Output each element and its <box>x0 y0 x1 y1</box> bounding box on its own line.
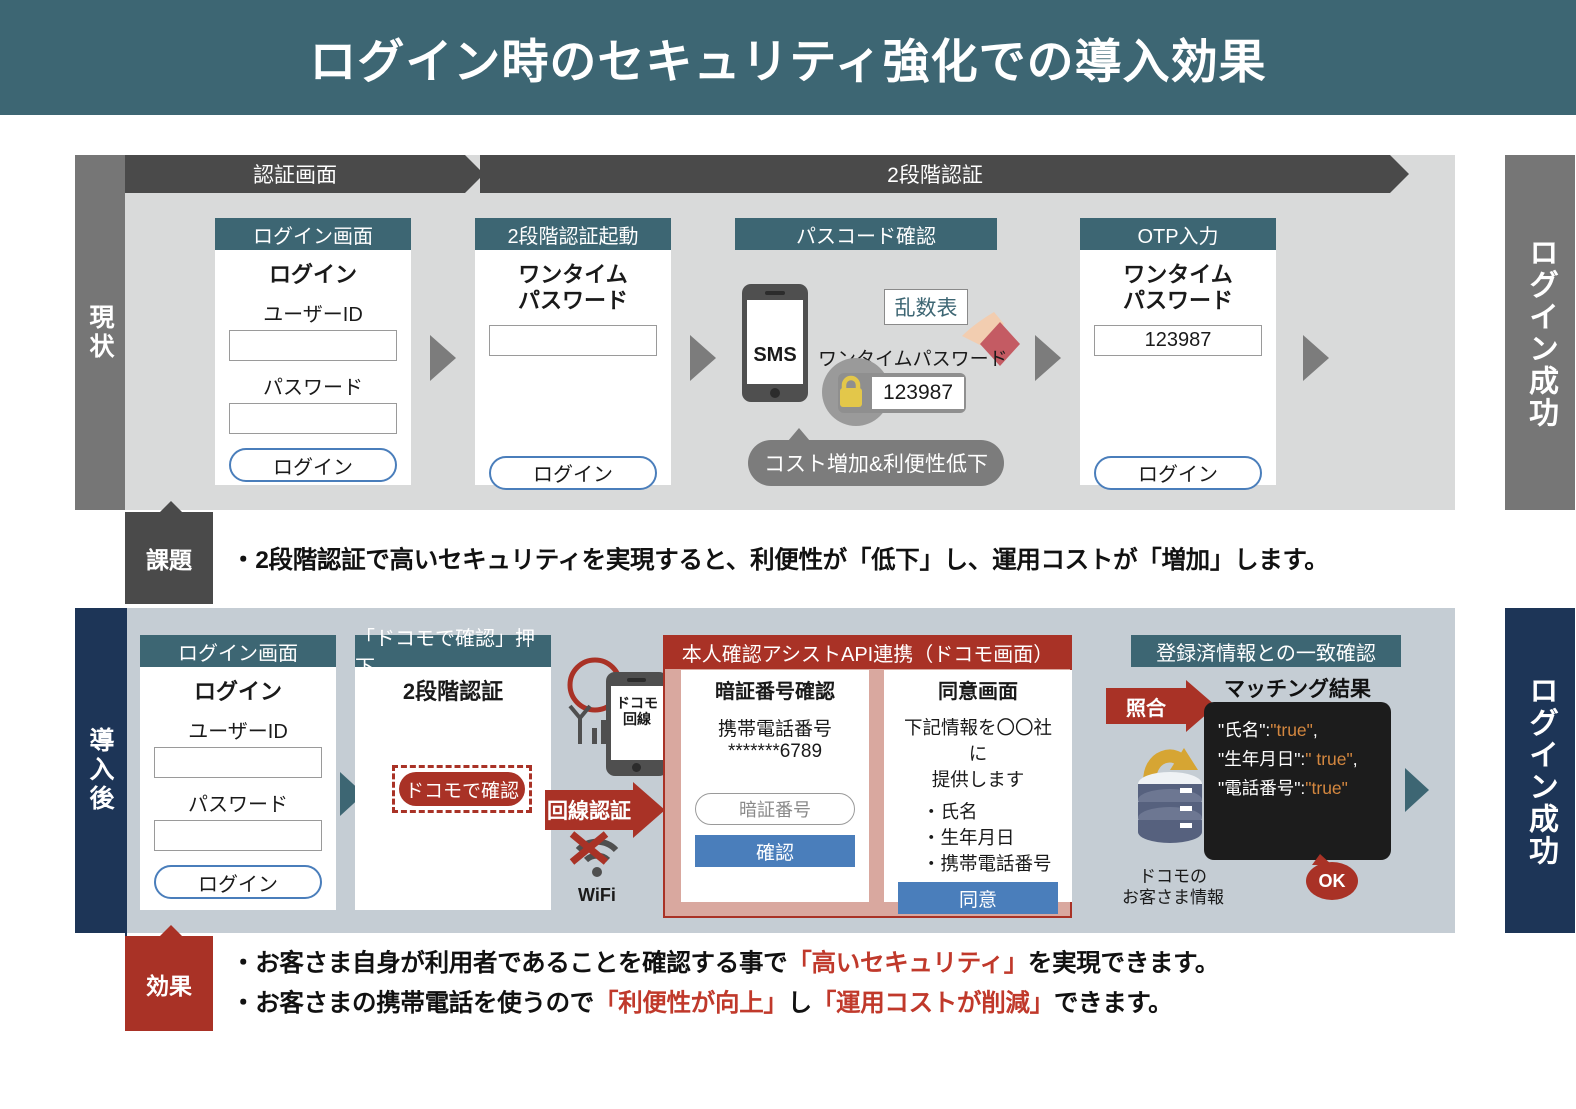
flow-arrow-4-icon <box>1303 335 1329 381</box>
consent-item-list: ・氏名 ・生年月日 ・携帯電話番号 <box>898 798 1058 876</box>
json-tail-1: , <box>1353 749 1358 769</box>
pin-input[interactable]: 暗証番号 <box>695 793 855 825</box>
line-authentication-arrow-label: 回線認証 <box>545 790 633 830</box>
login-button-after[interactable]: ログイン <box>154 865 322 899</box>
after-adoption-label: 導入後 <box>75 608 125 933</box>
database-caption-line1: ドコモの <box>1113 866 1233 887</box>
consent-item-1: ・生年月日 <box>922 824 1058 850</box>
card-pin-confirm: 暗証番号確認 携帯電話番号 *******6789 暗証番号 確認 <box>681 670 869 902</box>
docomo-phone-speaker-icon <box>627 678 646 682</box>
card-2fa-launch-title: 2段階認証起動 <box>507 220 638 249</box>
current-state-label: 現状 <box>75 155 125 510</box>
card-login-screen-after-header: ログイン画面 <box>140 635 336 667</box>
effect-tab-label: 効果 <box>146 967 192 1001</box>
effect-line2-a: ・お客さまの携帯電話を使うので <box>231 990 594 1017</box>
effect-line1-b: を実現できます。 <box>1028 950 1219 977</box>
phase-banner-auth-label: 認証画面 <box>253 159 337 189</box>
docomo-line-tag-line1: ドコモ <box>616 695 658 711</box>
json-key-0: "氏名": <box>1218 720 1270 740</box>
password-label: パスワード <box>229 371 397 400</box>
flow-arrow-2-icon <box>690 335 716 381</box>
card-login-screen-title: ログイン画面 <box>253 220 373 249</box>
otp-heading-line2: パスワード <box>489 288 657 314</box>
two-factor-heading: 2段階認証 <box>369 679 537 705</box>
userid-input-after[interactable] <box>154 747 322 778</box>
wifi-label: WiFi <box>578 885 616 906</box>
json-value-1: " true" <box>1305 749 1352 769</box>
consent-line2: 提供します <box>898 766 1058 792</box>
page-header: ログイン時のセキュリティ強化での導入効果 <box>0 0 1576 115</box>
line-authentication-arrow-head-icon <box>633 782 665 838</box>
docomo-line-tag-line2: 回線 <box>623 711 651 727</box>
otp-input[interactable] <box>489 325 657 356</box>
otp-code-value: 123987 <box>872 377 964 409</box>
phase-banner-2fa-label: 2段階認証 <box>887 159 983 189</box>
sms-label: SMS <box>742 344 808 367</box>
login-success-label-current: ログイン成功 <box>1505 155 1575 510</box>
effect-line2-b: できます。 <box>1054 990 1173 1017</box>
otp-entry-line2: パスワード <box>1094 288 1262 314</box>
database-icon <box>1132 770 1208 848</box>
json-line-1: "生年月日":" true", <box>1218 745 1391 774</box>
phase-banner-auth-screen: 認証画面 <box>125 155 465 193</box>
card-login-screen-header: ログイン画面 <box>215 218 411 250</box>
effect-line2-highlight-1: 「利便性が向上」 <box>594 990 788 1017</box>
card-login-screen-after-title: ログイン画面 <box>178 637 298 666</box>
matching-result-box: "氏名":"true", "生年月日":" true", "電話番号":"tru… <box>1204 702 1391 860</box>
phone-screen <box>747 300 803 384</box>
docomo-line-tag: ドコモ 回線 <box>613 688 661 734</box>
login-heading: ログイン <box>229 262 397 288</box>
pin-confirm-button[interactable]: 確認 <box>695 835 855 867</box>
userid-label-after: ユーザーID <box>154 715 322 744</box>
matching-arrow-label: 照合 <box>1106 688 1186 724</box>
password-input-after[interactable] <box>154 820 322 851</box>
effect-notch-icon <box>159 925 183 937</box>
otp-entry-input[interactable]: 123987 <box>1094 325 1262 356</box>
cost-warning-bubble: コスト増加&利便性低下 <box>748 440 1004 486</box>
flow-arrow-3-icon <box>1035 335 1061 381</box>
effect-line-2: ・お客さまの携帯電話を使うので「利便性が向上」し「運用コストが削減」できます。 <box>231 984 1500 1024</box>
flow-arrow-1-icon <box>430 335 456 381</box>
otp-entry-line1: ワンタイム <box>1094 262 1262 288</box>
issue-notch-icon <box>159 501 183 513</box>
effect-tab: 効果 <box>125 936 213 1031</box>
card-docomo-confirm-title: 「ドコモで確認」押下 <box>355 622 551 680</box>
effect-line2-mid: し <box>788 990 812 1017</box>
card-2fa-launch: 2段階認証起動 ワンタイム パスワード ログイン <box>475 218 671 485</box>
phase-banner-two-factor: 2段階認証 <box>480 155 1390 193</box>
issue-row: 課題 ・2段階認証で高いセキュリティを実現すると、利便性が「低下」し、運用コスト… <box>125 512 1500 604</box>
login-button-otp[interactable]: ログイン <box>1094 456 1262 490</box>
card-otp-entry-title: OTP入力 <box>1137 220 1218 249</box>
card-passcode-confirm-header: パスコード確認 <box>735 218 997 250</box>
matching-header-title: 登録済情報との一致確認 <box>1156 637 1376 666</box>
json-value-0: "true" <box>1270 720 1313 740</box>
login-success-label-after: ログイン成功 <box>1505 608 1575 933</box>
database-caption-line2: お客さま情報 <box>1113 887 1233 908</box>
smartphone-icon <box>742 284 808 402</box>
card-consent-screen: 同意画面 下記情報を〇〇社に 提供します ・氏名 ・生年月日 ・携帯電話番号 同… <box>884 670 1072 902</box>
consent-title: 同意画面 <box>898 680 1058 704</box>
ok-status-badge: OK <box>1306 862 1358 900</box>
matching-result-title: マッチング結果 <box>1204 673 1391 703</box>
lock-icon <box>835 374 867 412</box>
otp-heading: ワンタイム パスワード <box>489 262 657 315</box>
card-passcode-confirm-title: パスコード確認 <box>796 220 936 249</box>
effect-line1-a: ・お客さま自身が利用者であることを確認する事で <box>231 950 787 977</box>
pin-phone-masked: *******6789 <box>695 741 855 763</box>
issue-description: ・2段階認証で高いセキュリティを実現すると、利便性が「低下」し、運用コストが「増… <box>213 512 1500 604</box>
json-key-2: "電話番号": <box>1218 778 1305 798</box>
matching-header: 登録済情報との一致確認 <box>1131 635 1401 667</box>
api-integration-title: 本人確認アシストAPI連携（ドコモ画面） <box>682 638 1053 667</box>
otp-heading-line1: ワンタイム <box>489 262 657 288</box>
card-login-screen-after: ログイン画面 ログイン ユーザーID パスワード ログイン <box>140 635 336 910</box>
api-integration-header: 本人確認アシストAPI連携（ドコモ画面） <box>665 636 1070 669</box>
json-line-0: "氏名":"true", <box>1218 716 1391 745</box>
docomo-phone-home-icon <box>632 763 641 772</box>
consent-item-2: ・携帯電話番号 <box>922 850 1058 876</box>
line-authentication-arrow: 回線認証 <box>545 782 665 838</box>
effect-line1-highlight: 「高いセキュリティ」 <box>787 950 1028 977</box>
userid-input[interactable] <box>229 330 397 361</box>
random-table-button[interactable]: 乱数表 <box>884 289 968 325</box>
effect-line-1: ・お客さま自身が利用者であることを確認する事で「高いセキュリティ」を実現できます… <box>231 944 1500 984</box>
effect-row: 効果 ・お客さま自身が利用者であることを確認する事で「高いセキュリティ」を実現で… <box>125 936 1500 1031</box>
login-heading-after: ログイン <box>154 679 322 705</box>
database-caption: ドコモの お客さま情報 <box>1113 866 1233 909</box>
card-otp-entry: OTP入力 ワンタイム パスワード 123987 ログイン <box>1080 218 1276 485</box>
otp-entry-heading: ワンタイム パスワード <box>1094 262 1262 315</box>
login-button[interactable]: ログイン <box>229 448 397 482</box>
effect-line2-highlight-2: 「運用コストが削減」 <box>812 990 1054 1017</box>
phone-home-button-icon <box>770 388 780 398</box>
card-otp-entry-header: OTP入力 <box>1080 218 1276 250</box>
consent-item-0: ・氏名 <box>922 798 1058 824</box>
card-login-screen-current: ログイン画面 ログイン ユーザーID パスワード ログイン <box>215 218 411 485</box>
login-button-2fa[interactable]: ログイン <box>489 456 657 490</box>
json-key-1: "生年月日": <box>1218 749 1305 769</box>
userid-label: ユーザーID <box>229 298 397 327</box>
issue-tab-label: 課題 <box>146 541 192 575</box>
pin-confirm-title: 暗証番号確認 <box>695 680 855 704</box>
phone-speaker-icon <box>765 291 785 295</box>
password-input[interactable] <box>229 403 397 434</box>
effect-description: ・お客さま自身が利用者であることを確認する事で「高いセキュリティ」を実現できます… <box>213 936 1500 1031</box>
page-title: ログイン時のセキュリティ強化での導入効果 <box>309 23 1266 92</box>
card-2fa-launch-header: 2段階認証起動 <box>475 218 671 250</box>
pin-phone-label: 携帯電話番号 <box>695 714 855 741</box>
matching-arrow: 照合 <box>1106 680 1216 732</box>
consent-agree-button[interactable]: 同意 <box>898 882 1058 914</box>
card-docomo-confirm-header: 「ドコモで確認」押下 <box>355 635 551 667</box>
password-label-after: パスワード <box>154 788 322 817</box>
flow-arrow-after-final-icon <box>1405 768 1429 812</box>
json-tail-0: , <box>1313 720 1318 740</box>
issue-tab: 課題 <box>125 512 213 604</box>
json-value-2: "true" <box>1305 778 1348 798</box>
json-line-2: "電話番号":"true" <box>1218 774 1391 803</box>
consent-line1: 下記情報を〇〇社に <box>898 714 1058 766</box>
docomo-confirm-button[interactable]: ドコモで確認 <box>399 772 525 806</box>
